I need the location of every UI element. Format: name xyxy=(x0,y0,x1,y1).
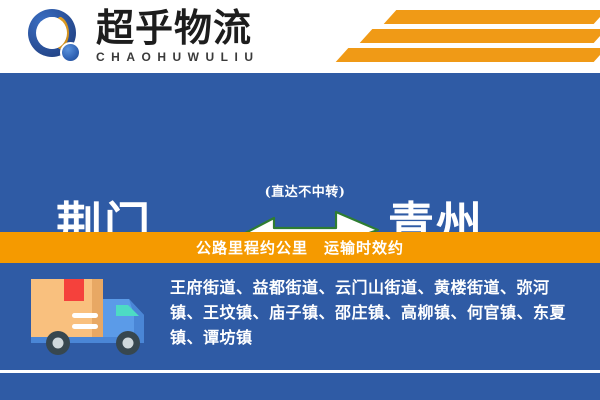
stripe-2 xyxy=(360,29,600,43)
footer-strip xyxy=(0,373,600,400)
coverage-section: 王府街道、益都街道、云门山街道、黄楼街道、弥河镇、王坟镇、庙子镇、邵庄镇、高柳镇… xyxy=(0,263,600,370)
stripe-1 xyxy=(384,10,600,24)
route-panel: 荆门 (直达不中转) 【往返运输】 青州 xyxy=(0,73,600,232)
logistics-route-banner: 超乎物流 CHAOHUWULIU 荆门 (直达不中转) 【往返运输】 青州 公路… xyxy=(0,0,600,400)
mileage-duration-text: 公路里程约公里 运输时效约 xyxy=(196,237,404,258)
delivery-truck-icon xyxy=(28,273,168,361)
mileage-duration-bar: 公路里程约公里 运输时效约 xyxy=(0,232,600,263)
chaohu-logistics-logo-icon xyxy=(28,9,84,65)
stripe-3 xyxy=(336,48,600,62)
brand-name-cn: 超乎物流 xyxy=(96,8,276,48)
brand-name-en: CHAOHUWULIU xyxy=(96,50,276,64)
brand-wordmark: 超乎物流 CHAOHUWULIU xyxy=(96,8,276,64)
arrow-caption-top: (直达不中转) xyxy=(225,185,385,201)
banner-header: 超乎物流 CHAOHUWULIU xyxy=(0,0,600,72)
coverage-districts-text: 王府街道、益都街道、云门山街道、黄楼街道、弥河镇、王坟镇、庙子镇、邵庄镇、高柳镇… xyxy=(170,275,582,350)
header-stripes-decoration xyxy=(340,8,600,66)
logo-dot-shape xyxy=(60,42,81,63)
